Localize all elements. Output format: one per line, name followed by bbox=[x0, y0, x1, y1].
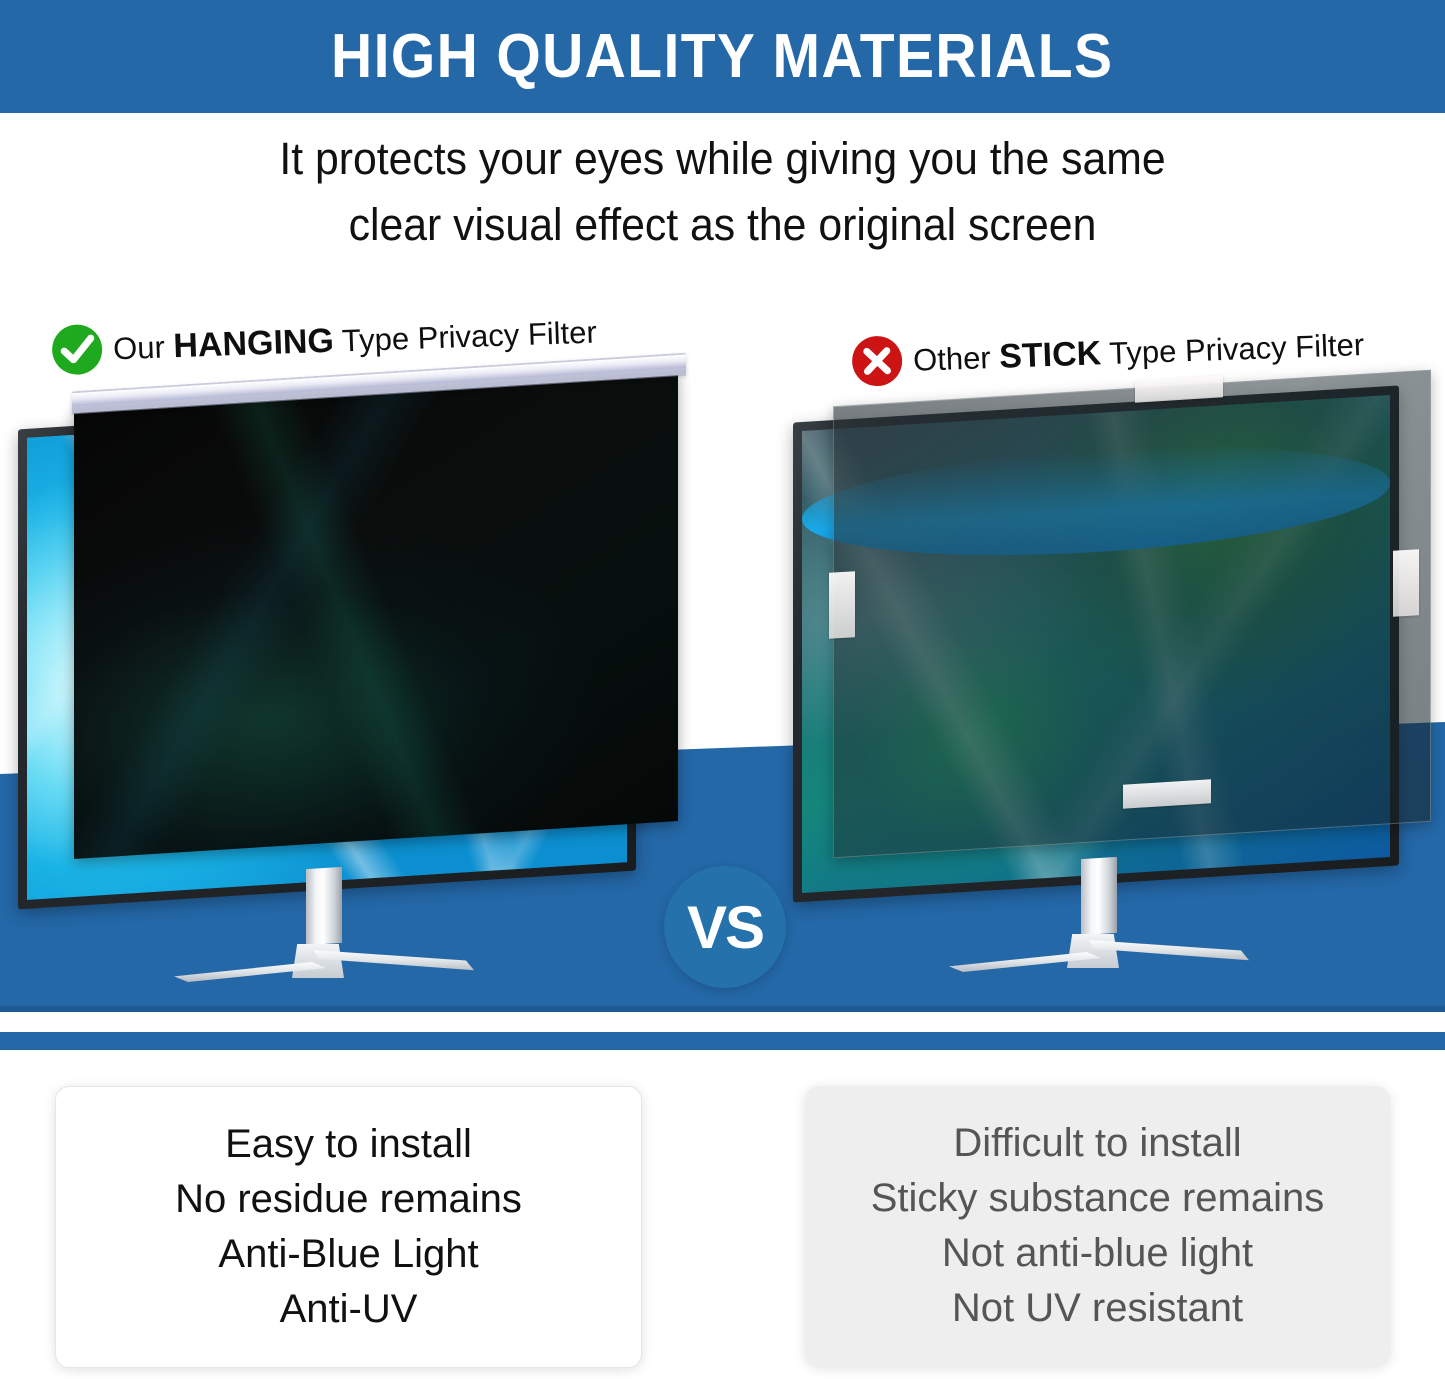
base-hub bbox=[292, 944, 344, 978]
subtitle-line-1: It protects your eyes while giving you t… bbox=[36, 126, 1409, 192]
right-caption-prefix: Other bbox=[913, 339, 1000, 377]
page-title: HIGH QUALITY MATERIALS bbox=[331, 21, 1113, 92]
check-mark-icon bbox=[51, 324, 103, 376]
vs-label: VS bbox=[687, 893, 763, 962]
subtitle-line-2: clear visual effect as the original scre… bbox=[36, 192, 1409, 258]
desk-divider bbox=[0, 1006, 1445, 1012]
positive-feature-item: Anti-Blue Light bbox=[218, 1227, 478, 1282]
left-caption-suffix: Type Privacy Filter bbox=[333, 314, 597, 358]
positive-feature-box: Easy to install No residue remains Anti-… bbox=[55, 1086, 642, 1368]
left-caption-prefix: Our bbox=[113, 329, 174, 366]
monitor-base bbox=[174, 940, 474, 986]
section-divider bbox=[0, 1032, 1445, 1050]
negative-feature-item: Not anti-blue light bbox=[942, 1226, 1253, 1281]
base-hub bbox=[1067, 934, 1119, 968]
vs-badge: VS bbox=[664, 866, 786, 988]
right-caption: Other STICK Type Privacy Filter bbox=[851, 319, 1365, 387]
positive-feature-item: No residue remains bbox=[175, 1172, 522, 1227]
right-caption-strong: STICK bbox=[999, 334, 1102, 376]
monitor-neck bbox=[306, 867, 342, 945]
monitor-stick-type bbox=[793, 382, 1433, 986]
negative-feature-item: Difficult to install bbox=[953, 1116, 1241, 1171]
subtitle-block: It protects your eyes while giving you t… bbox=[0, 126, 1445, 258]
adhesive-tab-right bbox=[1393, 549, 1419, 617]
monitor-base bbox=[949, 930, 1249, 976]
cross-mark-icon bbox=[851, 335, 903, 387]
header-banner: HIGH QUALITY MATERIALS bbox=[0, 0, 1445, 113]
monitor-hanging-type bbox=[18, 388, 666, 988]
adhesive-tab-left bbox=[829, 571, 855, 639]
monitor-neck bbox=[1081, 857, 1117, 935]
comparison-stage: Our HANGING Type Privacy Filter Other ST… bbox=[0, 290, 1445, 1012]
negative-feature-box: Difficult to install Sticky substance re… bbox=[805, 1086, 1390, 1366]
negative-feature-item: Not UV resistant bbox=[952, 1281, 1243, 1336]
negative-feature-item: Sticky substance remains bbox=[871, 1171, 1325, 1226]
right-caption-text: Other STICK Type Privacy Filter bbox=[912, 325, 1364, 380]
right-caption-suffix: Type Privacy Filter bbox=[1101, 327, 1365, 371]
positive-feature-item: Easy to install bbox=[225, 1117, 472, 1172]
left-caption-strong: HANGING bbox=[173, 321, 335, 365]
privacy-filter-hanging bbox=[74, 369, 678, 859]
left-caption-text: Our HANGING Type Privacy Filter bbox=[112, 312, 597, 368]
positive-feature-item: Anti-UV bbox=[280, 1282, 418, 1337]
feature-boxes: Easy to install No residue remains Anti-… bbox=[0, 1086, 1445, 1379]
